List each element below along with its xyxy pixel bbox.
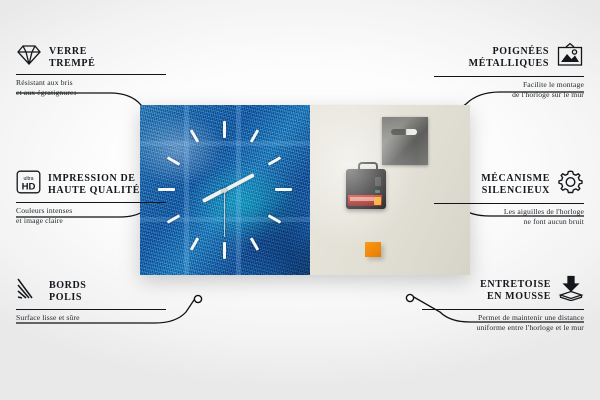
diamond-icon [16, 44, 42, 71]
callout-verre-trempe: VERRE TREMPÉ Résistant aux bris et aux é… [16, 44, 166, 97]
infographic-canvas: VERRE TREMPÉ Résistant aux bris et aux é… [0, 0, 600, 400]
callout-divider [16, 309, 166, 310]
clock-tick [167, 156, 181, 166]
callout-title-line-1: BORDS [49, 280, 86, 292]
callout-subtitle-line-2: et image claire [16, 216, 166, 226]
callout-mecanisme-silencieux: MÉCANISME SILENCIEUX Les aiguilles de l'… [434, 169, 584, 226]
clock-tick [275, 188, 292, 191]
callout-subtitle-line-2: de l'horloge sur le mur [434, 90, 584, 100]
quartz-mechanism [346, 169, 386, 209]
callout-title-line-1: ENTRETOISE [480, 279, 551, 291]
polished-edge-icon [16, 277, 42, 306]
hanger-slot [391, 129, 417, 135]
callout-subtitle-line-1: Surface lisse et sûre [16, 313, 166, 323]
foam-spacer [365, 242, 381, 257]
callout-divider [434, 76, 584, 77]
callout-impression-haute-qualite: ultra HD IMPRESSION DE HAUTE QUALITÉ Cou… [16, 170, 166, 225]
callout-subtitle-line-1: Les aiguilles de l'horloge [434, 207, 584, 217]
foam-spacer-arrow-icon [558, 275, 584, 306]
aa-battery [348, 195, 382, 206]
callout-divider [16, 202, 166, 203]
callout-title-line-1: IMPRESSION DE [48, 173, 140, 185]
callout-title-line-2: EN MOUSSE [487, 291, 551, 303]
clock-tick [268, 156, 282, 166]
second-hand [224, 190, 225, 237]
callout-subtitle-line-1: Facilite le montage [434, 80, 584, 90]
callout-title-line-1: MÉCANISME [481, 173, 550, 185]
battery-plus-terminal [374, 197, 381, 205]
clock-tick [223, 121, 226, 138]
clock-tick [190, 237, 200, 251]
callout-title-line-2: MÉTALLIQUES [469, 58, 549, 70]
picture-frame-hanger-icon [556, 42, 584, 73]
callout-divider [16, 74, 166, 75]
svg-text:HD: HD [22, 181, 36, 192]
callout-subtitle-line-1: Permet de maintenir une distance [422, 313, 584, 323]
callout-entretoise-en-mousse: ENTRETOISE EN MOUSSE Permet de maintenir… [422, 275, 584, 332]
marker-bords-polis [194, 295, 201, 302]
clock-center-cap [222, 188, 227, 193]
callout-title-line-2: POLIS [49, 292, 86, 304]
callout-title-line-1: VERRE [49, 46, 95, 58]
battery-label [350, 197, 374, 201]
metal-hanger-plate [382, 117, 428, 165]
ultra-hd-icon: ultra HD [16, 170, 41, 199]
callout-poignees-metalliques: POIGNÉES MÉTALLIQUES Facilite le montage… [434, 42, 584, 99]
mechanism-hook [358, 162, 378, 173]
callout-title-line-1: POIGNÉES [493, 46, 549, 58]
callout-subtitle-line-2: et aux égratignures [16, 88, 166, 98]
mechanism-shaft [375, 177, 381, 186]
clock-tick [223, 242, 226, 259]
marker-entretoise [406, 294, 413, 301]
callout-divider [434, 203, 584, 204]
gear-icon [557, 169, 584, 200]
callout-subtitle-line-2: uniforme entre l'horloge et le mur [422, 323, 584, 333]
callout-subtitle-line-1: Résistant aux bris [16, 78, 166, 88]
callout-title-line-2: SILENCIEUX [482, 185, 550, 197]
callout-bords-polis: BORDS POLIS Surface lisse et sûre [16, 277, 166, 323]
callout-title-line-2: HAUTE QUALITÉ [48, 185, 140, 197]
mechanism-label-dot [375, 190, 380, 193]
product-image [140, 105, 470, 275]
callout-subtitle-line-1: Couleurs intenses [16, 206, 166, 216]
callout-divider [422, 309, 584, 310]
callout-title-line-2: TREMPÉ [49, 58, 95, 70]
callout-subtitle-line-2: ne font aucun bruit [434, 217, 584, 227]
clock-tick [250, 237, 260, 251]
